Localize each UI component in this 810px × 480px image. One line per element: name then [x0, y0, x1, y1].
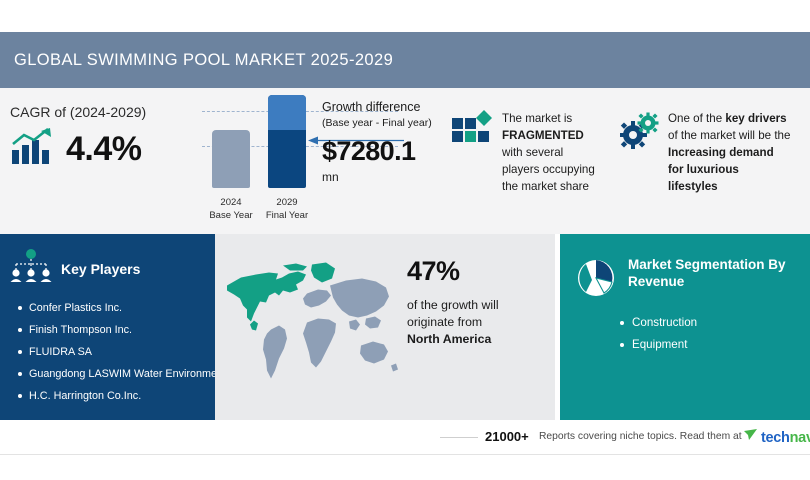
footer-note: Reports covering niche topics. Read them… — [539, 431, 742, 442]
header-bar: GLOBAL SWIMMING POOL MARKET 2025-2029 — [0, 32, 810, 88]
pie-chart-icon — [574, 256, 618, 305]
org-chart-icon — [10, 248, 52, 289]
list-item: Confer Plastics Inc. — [18, 301, 211, 316]
list-item: Finish Thompson Inc. — [18, 323, 211, 338]
list-item: FLUIDRA SA — [18, 345, 211, 360]
list-item: Construction — [620, 315, 810, 331]
infographic-page: GLOBAL SWIMMING POOL MARKET 2025-2029 CA… — [0, 0, 810, 480]
key-players-title: Key Players — [61, 261, 140, 277]
middle-row: Key Players Confer Plastics Inc. Finish … — [0, 234, 810, 420]
market-segmentation-title: Market Segmentation By Revenue — [628, 256, 796, 290]
bar-final-year — [268, 95, 306, 188]
key-drivers-text: One of the key drivers of the market wil… — [668, 110, 810, 195]
region-description: of the growth will originate from North … — [407, 297, 547, 348]
cagr-label: CAGR of (2024-2029) — [10, 104, 195, 120]
growth-difference-chart: 2024 Base Year 2029 Final Year — [196, 96, 326, 226]
key-players-panel: Key Players Confer Plastics Inc. Finish … — [0, 234, 215, 420]
technavio-logo[interactable]: technavio — [744, 428, 810, 447]
logo-text-navio: navio — [790, 430, 810, 446]
footer-bar: 21000+ Reports covering niche topics. Re… — [0, 420, 810, 454]
bar-growth-segment — [268, 95, 306, 130]
region-growth-text: 47% of the growth will originate from No… — [407, 256, 547, 348]
key-players-header: Key Players — [0, 234, 215, 289]
fragmented-squares-icon — [452, 110, 492, 195]
technavio-arrow-icon — [744, 428, 758, 447]
world-map-icon — [223, 252, 403, 397]
region-growth-panel: 47% of the growth will originate from No… — [215, 234, 555, 420]
logo-text-tech: tech — [761, 430, 790, 446]
report-count: 21000+ — [485, 429, 529, 444]
market-segmentation-panel: Market Segmentation By Revenue Construct… — [560, 234, 810, 420]
key-drivers-block: One of the key drivers of the market wil… — [620, 110, 810, 195]
page-title: GLOBAL SWIMMING POOL MARKET 2025-2029 — [0, 51, 393, 70]
market-fragmented-block: The market is FRAGMENTED with several pl… — [452, 110, 637, 195]
key-players-list: Confer Plastics Inc. Finish Thompson Inc… — [0, 301, 215, 404]
cagr-block: CAGR of (2024-2029) 4.4% — [10, 104, 195, 171]
market-segmentation-list: Construction Equipment — [560, 315, 810, 353]
bar-chart-growth-icon — [10, 128, 56, 171]
gears-icon — [620, 110, 660, 195]
list-item: H.C. Harrington Co.Inc. — [18, 389, 211, 404]
region-percent: 47% — [407, 256, 547, 287]
market-segmentation-header: Market Segmentation By Revenue — [560, 234, 810, 305]
market-fragmented-text: The market is FRAGMENTED with several pl… — [502, 110, 595, 195]
footer-baseline-rule — [0, 454, 810, 455]
cagr-value: 4.4% — [66, 130, 142, 169]
footer-divider — [440, 437, 478, 438]
list-item: Guangdong LASWIM Water Environme... — [18, 367, 211, 382]
bar-label-2029: 2029 Final Year — [254, 196, 320, 222]
bar-base-year — [212, 130, 250, 188]
list-item: Equipment — [620, 337, 810, 353]
top-stats-strip: CAGR of (2024-2029) 4.4% — [0, 88, 810, 234]
